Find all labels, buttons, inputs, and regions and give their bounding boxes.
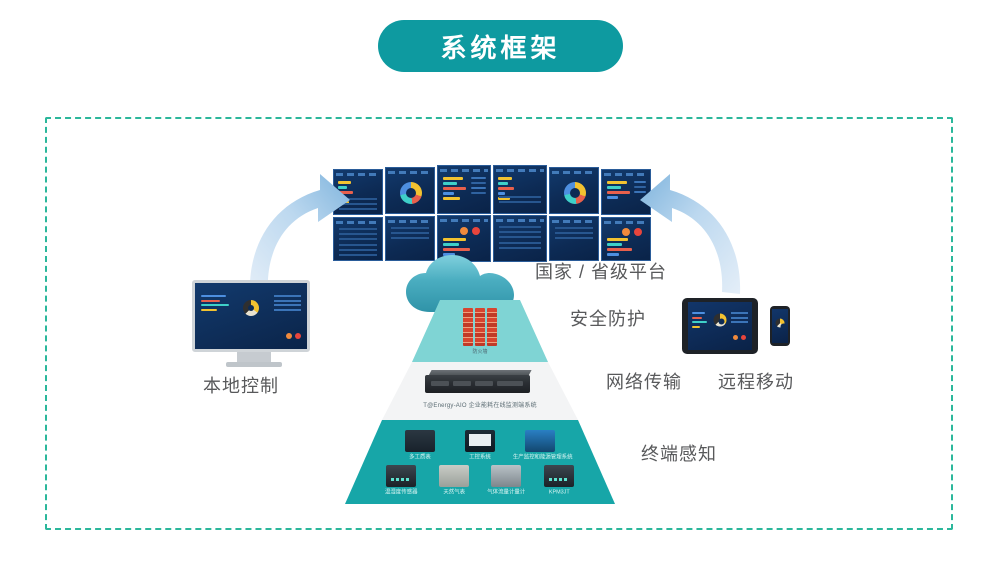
terminal-device: 多工质表 <box>397 430 443 460</box>
controller-icon <box>544 465 574 487</box>
label-network-transmission: 网络传输 <box>606 368 682 394</box>
dashboard-screen <box>493 165 547 214</box>
label-remote-mobile: 远程移动 <box>718 368 794 394</box>
page-title: 系统框架 <box>440 28 560 65</box>
tablet-device-icon <box>682 298 758 354</box>
firewall-icon <box>463 308 497 346</box>
label-national-platform: 国家 / 省级平台 <box>535 258 667 284</box>
server-label: T@Energy-AIO 企业能耗在线监测端系统 <box>423 400 537 409</box>
pyramid-tier-terminal: 多工质表 工控系统 生产监控和能源管理系统 温湿度传感器 天 <box>330 420 630 504</box>
monitor-stand <box>237 352 271 362</box>
terminal-device: 天然气表 <box>433 465 476 495</box>
dashboard-screen <box>385 167 435 214</box>
desktop-monitor-icon <box>192 280 310 352</box>
terminal-device: 温湿度传感器 <box>380 465 423 495</box>
dashboard-screen <box>549 167 599 214</box>
terminal-device: KPM3JT <box>538 465 581 495</box>
flow-meter-icon <box>491 465 521 487</box>
video-wall-row-top <box>333 165 651 213</box>
page-title-pill: 系统框架 <box>378 20 623 72</box>
monitor-base <box>226 362 282 367</box>
terminal-row-2: 温湿度传感器 天然气表 气体流量计量计 KPM3JT <box>380 465 580 495</box>
dashboard-screen <box>437 165 491 214</box>
terminal-device-grid: 多工质表 工控系统 生产监控和能源管理系统 温湿度传感器 天 <box>380 430 580 500</box>
video-wall <box>333 165 651 263</box>
gas-meter-icon <box>439 465 469 487</box>
dashboard-screen <box>549 216 599 261</box>
terminal-row-1: 多工质表 工控系统 生产监控和能源管理系统 <box>380 430 580 460</box>
industrial-meter-icon <box>405 430 435 452</box>
terminal-device: 气体流量计量计 <box>485 465 528 495</box>
sensor-icon <box>386 465 416 487</box>
arrow-local-to-platform-icon <box>228 168 354 296</box>
label-security-protection: 安全防护 <box>570 305 646 331</box>
phone-device-icon <box>770 306 790 346</box>
monitor-server-icon <box>525 430 555 452</box>
terminal-device: 工控系统 <box>457 430 503 460</box>
tablet-screen <box>688 302 752 350</box>
firewall-label: 防火墙 <box>472 348 487 355</box>
terminal-device: 生产监控和能源管理系统 <box>517 430 563 460</box>
pyramid-tier-network: T@Energy-AIO 企业能耗在线监测端系统 <box>330 362 630 420</box>
industrial-pc-icon <box>465 430 495 452</box>
label-terminal-sensing: 终端感知 <box>641 440 717 466</box>
server-icon <box>425 370 535 396</box>
label-local-control: 本地控制 <box>203 372 279 398</box>
phone-screen <box>772 309 788 343</box>
